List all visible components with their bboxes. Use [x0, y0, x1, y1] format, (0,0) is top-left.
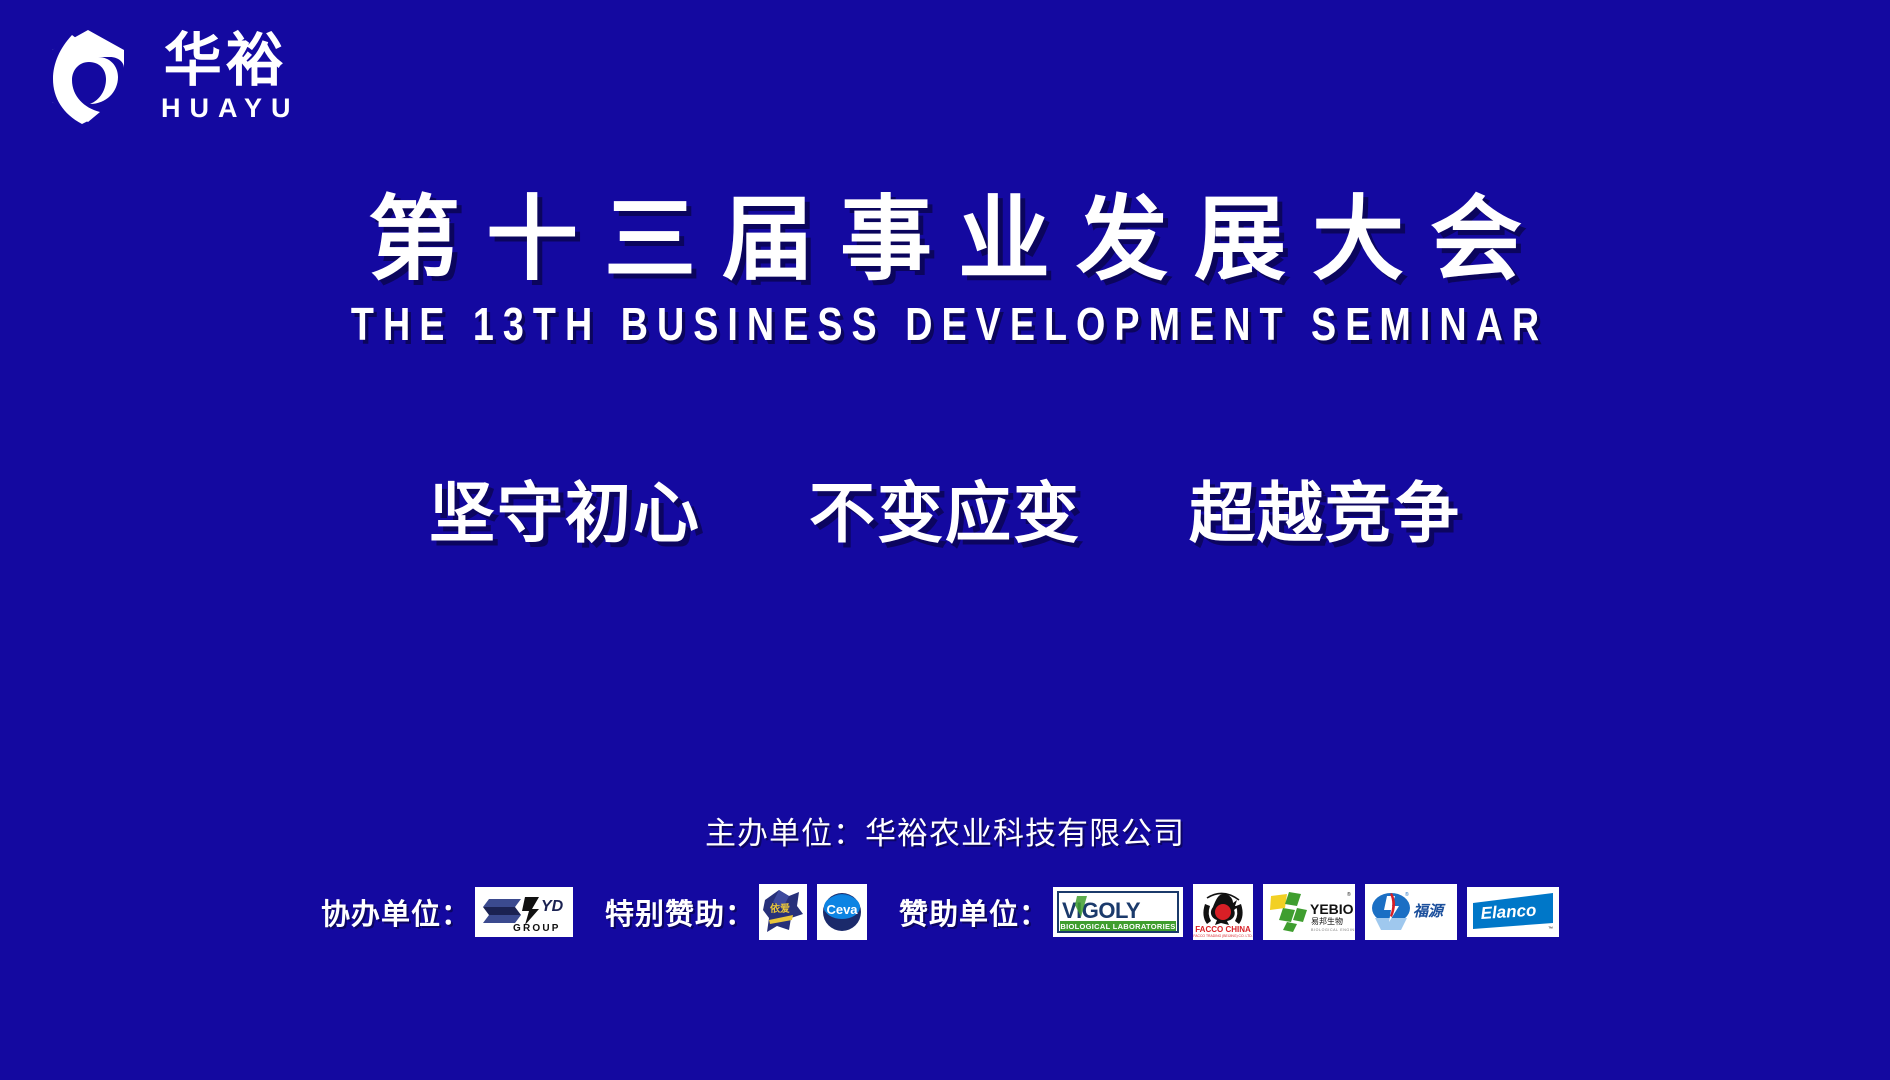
tagline: 坚守初心 不变应变 超越竞争	[0, 460, 1890, 556]
svg-text:福源: 福源	[1413, 902, 1446, 920]
sponsor-group-special: 特别赞助： 依爱 Ceva	[605, 884, 877, 940]
svg-text:™: ™	[1548, 926, 1553, 932]
conference-banner-slide: 华裕 HUAYU 第十三届事业发展大会 THE 13TH BUSINESS DE…	[0, 0, 1890, 1080]
svg-text:FACCO TRADING (BEIJING) CO. LT: FACCO TRADING (BEIJING) CO. LTD.	[1193, 934, 1252, 938]
page-title-cn: 第十三届事业发展大会	[0, 190, 1890, 289]
svg-text:YEBIO: YEBIO	[1310, 901, 1354, 917]
huayu-hexagon-swirl-logo-icon	[38, 26, 138, 126]
svg-text:Ceva: Ceva	[826, 902, 858, 917]
page-title-en: THE 13TH BUSINESS DEVELOPMENT SEMINAR	[170, 297, 1720, 351]
sponsor-label-coorganizer: 协办单位：	[321, 891, 471, 933]
tagline-part-3: 超越竞争	[1189, 475, 1461, 552]
tagline-part-2: 不变应变	[809, 475, 1081, 552]
ceva-logo: Ceva	[817, 884, 867, 940]
organizer-line: 主办单位：华裕农业科技有限公司	[0, 808, 1890, 853]
svg-text:BIOLOGICAL LABORATORIES: BIOLOGICAL LABORATORIES	[1060, 922, 1175, 931]
sponsor-group-sponsors: 赞助单位： VIGOLY BIOLOGICAL LABORATORIES	[899, 884, 1569, 940]
svg-text:易邦生物: 易邦生物	[1311, 916, 1343, 926]
syd-group-logo: YD GROUP	[475, 887, 573, 937]
svg-text:依爱: 依爱	[770, 902, 790, 915]
svg-text:®: ®	[1405, 891, 1409, 898]
yebio-logo: YEBIO 易邦生物 BIOLOGICAL ENGINEERING ®	[1263, 884, 1355, 940]
facco-china-logo: FACCO CHINA FACCO TRADING (BEIJING) CO. …	[1193, 884, 1253, 940]
brand-wordmark: 华裕 HUAYU	[152, 31, 300, 122]
svg-text:YD: YD	[541, 898, 564, 915]
brand-name-cn: 华裕	[164, 31, 288, 89]
tagline-part-1: 坚守初心	[429, 475, 701, 552]
sponsor-label-sponsors: 赞助单位：	[899, 891, 1049, 933]
svg-text:Elanco: Elanco	[1480, 901, 1537, 923]
svg-text:VIGOLY: VIGOLY	[1062, 898, 1141, 923]
svg-text:FACCO CHINA: FACCO CHINA	[1195, 925, 1251, 934]
sponsor-strip: 协办单位： YD GROUP 特别赞助：	[0, 884, 1890, 940]
brand-name-en: HUAYU	[152, 95, 300, 122]
vigoly-logo: VIGOLY BIOLOGICAL LABORATORIES	[1053, 887, 1183, 937]
brand-logo: 华裕 HUAYU	[38, 26, 300, 126]
sponsor-group-coorganizer: 协办单位： YD GROUP	[321, 887, 583, 937]
headline-block: 第十三届事业发展大会 THE 13TH BUSINESS DEVELOPMENT…	[0, 190, 1890, 351]
yiai-logo: 依爱	[759, 884, 807, 940]
elanco-logo: Elanco ™	[1467, 887, 1559, 937]
svg-text:BIOLOGICAL ENGINEERING: BIOLOGICAL ENGINEERING	[1311, 928, 1355, 932]
svg-text:®: ®	[1347, 891, 1351, 898]
fuyuan-logo: ® 福源	[1365, 884, 1457, 940]
svg-text:GROUP: GROUP	[513, 923, 561, 934]
sponsor-label-special: 特别赞助：	[605, 891, 755, 933]
